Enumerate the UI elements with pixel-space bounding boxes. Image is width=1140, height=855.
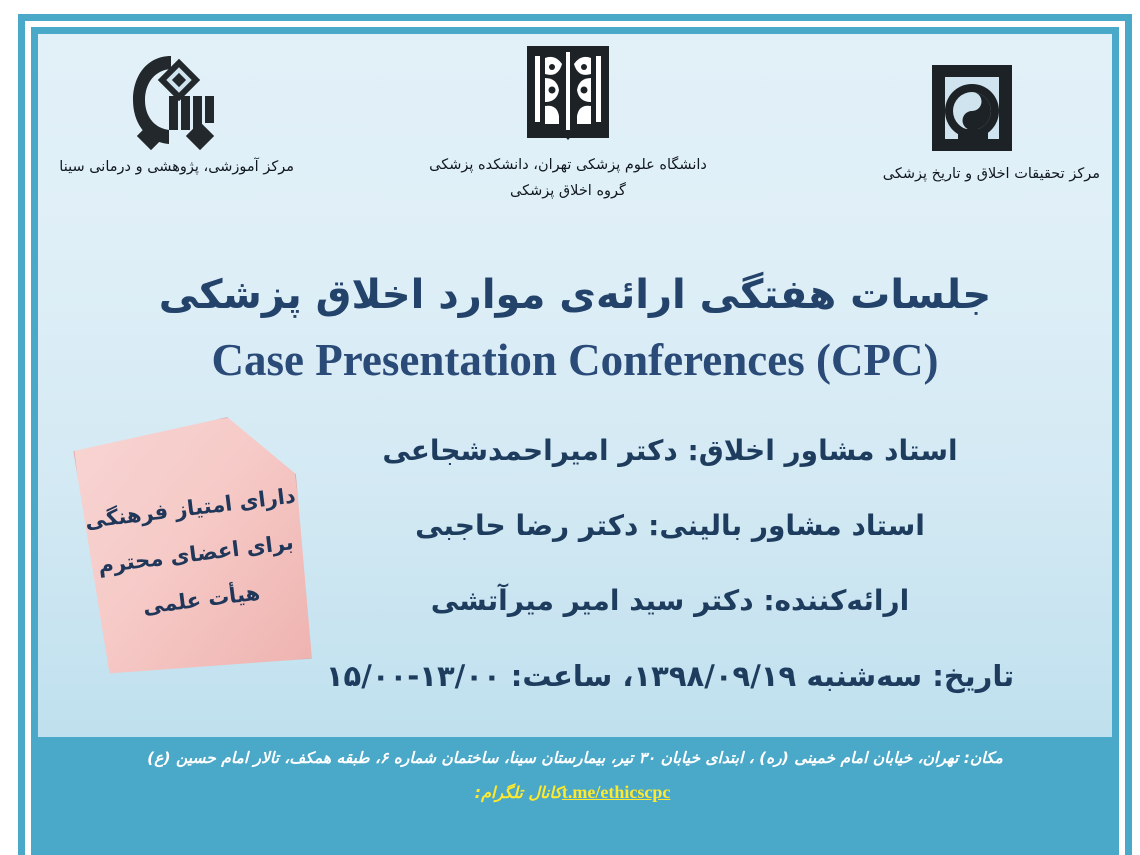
- clinical-advisor-line: استاد مشاور بالینی: دکتر رضا حاجبی: [288, 509, 1052, 542]
- badge-line-2: برای اعضای محترم: [97, 530, 295, 578]
- date-time-line: تاریخ: سه‌شنبه ۱۳۹۸/۰۹/۱۹، ساعت: ۱۳/۰۰-۱…: [288, 659, 1052, 693]
- poster-canvas: مرکز آموزشی، پژوهشی و درمانی سینا: [38, 34, 1112, 737]
- badge-line-1: دارای امتیاز فرهنگی: [84, 483, 297, 533]
- logo-block-sina: مرکز آموزشی، پژوهشی و درمانی سینا: [48, 38, 298, 180]
- ethics-advisor-line: استاد مشاور اخلاق: دکتر امیراحمدشجاعی: [288, 434, 1052, 467]
- telegram-channel-line: t.me/ethicscpcکانال تلگرام:: [38, 782, 1112, 803]
- logo-caption-tums-line1: دانشگاه علوم پزشکی تهران، دانشکده پزشکی: [418, 154, 718, 178]
- poster-root: مرکز آموزشی، پژوهشی و درمانی سینا: [0, 0, 1140, 855]
- venue-address-text: مکان: تهران، خیابان امام خمینی (ره) ، اب…: [38, 747, 1112, 770]
- page-title-persian: جلسات هفتگی ارائه‌ی موارد اخلاق پزشکی: [38, 272, 1112, 318]
- footer-bar: مکان: تهران، خیابان امام خمینی (ره) ، اب…: [38, 737, 1112, 855]
- logo-caption-tums-line2: گروه اخلاق پزشکی: [418, 180, 718, 204]
- sina-crescent-logo-icon: [48, 38, 298, 150]
- logo-block-tums: دانشگاه علوم پزشکی تهران، دانشکده پزشکی …: [418, 36, 718, 204]
- badge-text-group: دارای امتیاز فرهنگی برای اعضای محترم هیأ…: [72, 410, 319, 685]
- header-logos-row: مرکز آموزشی، پژوهشی و درمانی سینا: [38, 34, 1112, 214]
- page-title-english: Case Presentation Conferences (CPC): [38, 334, 1112, 386]
- tehran-university-medical-sciences-book-logo-icon: [418, 36, 718, 148]
- cultural-credit-badge: دارای امتیاز فرهنگی برای اعضای محترم هیأ…: [72, 410, 319, 685]
- logo-caption-ethics-center: مرکز تحقیقات اخلاق و تاریخ پزشکی: [842, 163, 1102, 187]
- medical-ethics-history-research-center-logo-icon: [842, 52, 1102, 157]
- badge-line-3: هیأت علمی: [142, 581, 262, 619]
- presenter-line: ارائه‌کننده: دکتر سید امیر میرآتشی: [288, 584, 1052, 617]
- telegram-label: کانال تلگرام:: [475, 783, 562, 802]
- logo-block-ethics-center: مرکز تحقیقات اخلاق و تاریخ پزشکی: [842, 52, 1102, 187]
- event-details-group: استاد مشاور اخلاق: دکتر امیراحمدشجاعی اس…: [288, 434, 1052, 693]
- logo-caption-sina: مرکز آموزشی، پژوهشی و درمانی سینا: [48, 156, 298, 180]
- telegram-url-link[interactable]: t.me/ethicscpc: [562, 782, 670, 803]
